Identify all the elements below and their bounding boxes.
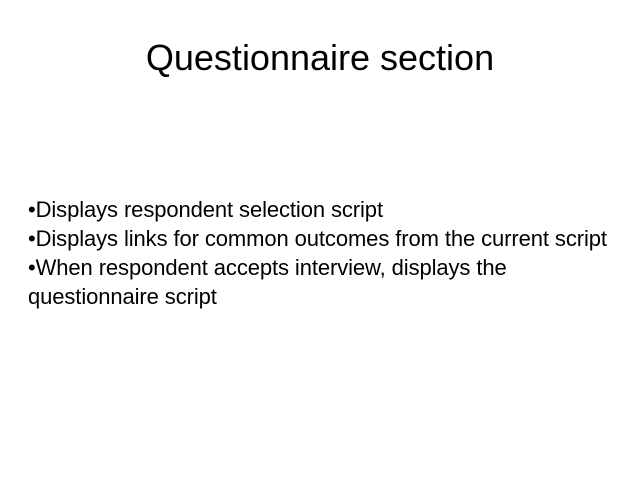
bullet-point-icon: • <box>28 197 36 222</box>
slide-body-text: •Displays respondent selection script •D… <box>28 195 612 311</box>
bullet-list-item: •Displays respondent selection script <box>28 195 612 224</box>
bullet-list-item: •Displays links for common outcomes from… <box>28 224 612 253</box>
bullet-item-label: When respondent accepts interview, displ… <box>28 255 507 309</box>
slide-title: Questionnaire section <box>0 36 640 80</box>
bullet-point-icon: • <box>28 226 36 251</box>
slide-canvas: Questionnaire section •Displays responde… <box>0 0 640 480</box>
bullet-item-label: Displays respondent selection script <box>36 197 383 222</box>
bullet-point-icon: • <box>28 255 36 280</box>
bullet-item-label: Displays links for common outcomes from … <box>36 226 607 251</box>
bullet-list-item: •When respondent accepts interview, disp… <box>28 253 612 311</box>
